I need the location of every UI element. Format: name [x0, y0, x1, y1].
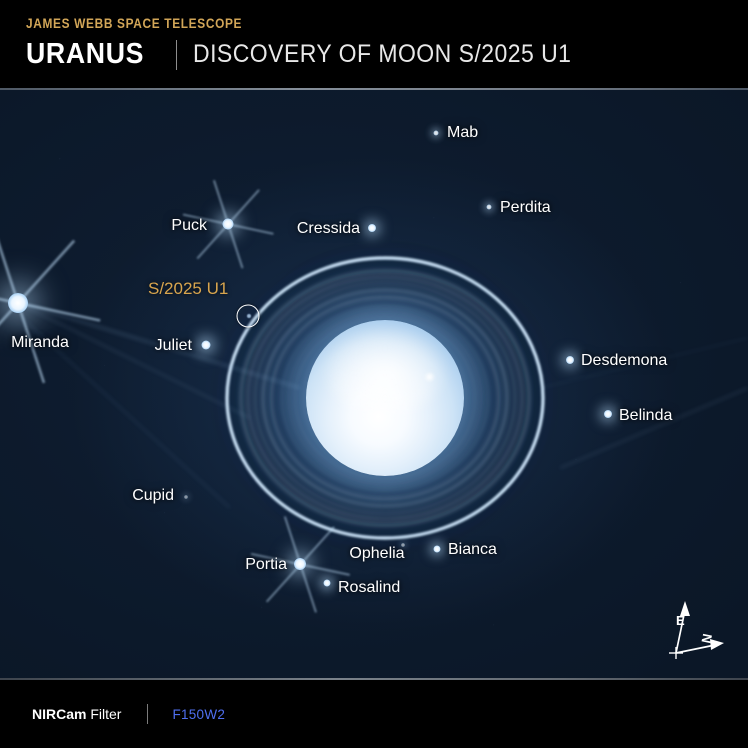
- new-moon-label: S/2025 U1: [148, 279, 228, 299]
- moon-label-puck: Puck: [171, 217, 207, 235]
- moon-label-cupid: Cupid: [132, 487, 174, 505]
- moon-label-mab: Mab: [447, 124, 478, 142]
- filter-value: F150W2: [172, 707, 225, 722]
- header-bar: JAMES WEBB SPACE TELESCOPE URANUS DISCOV…: [0, 0, 748, 88]
- astronomy-image: MabPerditaPuckCressidaMirandaJulietDesde…: [0, 88, 748, 678]
- moon-cupid: [184, 495, 188, 499]
- moon-perdita: [487, 205, 492, 210]
- moon-belinda: [604, 410, 612, 418]
- moon-bianca: [434, 546, 441, 553]
- moon-mab: [434, 131, 439, 136]
- moon-juliet: [202, 341, 211, 350]
- moon-label-portia: Portia: [245, 556, 287, 574]
- moon-label-cressida: Cressida: [297, 220, 360, 238]
- compass-rose: E N: [658, 591, 728, 663]
- moon-miranda: [8, 293, 28, 313]
- new-moon-point: [247, 314, 251, 318]
- polar-cap: [325, 328, 445, 414]
- moon-label-rosalind: Rosalind: [338, 579, 400, 597]
- page-title: URANUS: [26, 38, 144, 71]
- moon-rosalind: [324, 580, 331, 587]
- moon-label-perdita: Perdita: [500, 199, 551, 217]
- footer-rule: [0, 678, 748, 680]
- bright-storm-spot: [423, 372, 436, 382]
- moon-desdemona: [566, 356, 574, 364]
- moon-label-ophelia: Ophelia: [349, 545, 404, 563]
- moon-cressida: [368, 224, 376, 232]
- moon-label-belinda: Belinda: [619, 407, 672, 425]
- instrument-label: NIRCam Filter: [32, 706, 121, 722]
- footer-bar: NIRCam Filter F150W2: [0, 678, 748, 748]
- instrument-name: NIRCam: [32, 706, 86, 722]
- moon-puck: [223, 219, 234, 230]
- jwst-image-card: JAMES WEBB SPACE TELESCOPE URANUS DISCOV…: [0, 0, 748, 748]
- page-subtitle: DISCOVERY OF MOON S/2025 U1: [193, 40, 571, 69]
- compass-east-label: E: [676, 613, 685, 628]
- moon-label-juliet: Juliet: [155, 337, 192, 355]
- footer-divider: [147, 704, 148, 724]
- title-divider: [176, 40, 177, 70]
- moon-label-bianca: Bianca: [448, 541, 497, 559]
- moon-label-miranda: Miranda: [11, 334, 69, 352]
- moon-label-desdemona: Desdemona: [581, 352, 667, 370]
- instrument-label-rest: Filter: [86, 706, 121, 722]
- title-row: URANUS DISCOVERY OF MOON S/2025 U1: [26, 38, 605, 71]
- mission-name: JAMES WEBB SPACE TELESCOPE: [26, 16, 242, 31]
- moon-portia: [294, 558, 306, 570]
